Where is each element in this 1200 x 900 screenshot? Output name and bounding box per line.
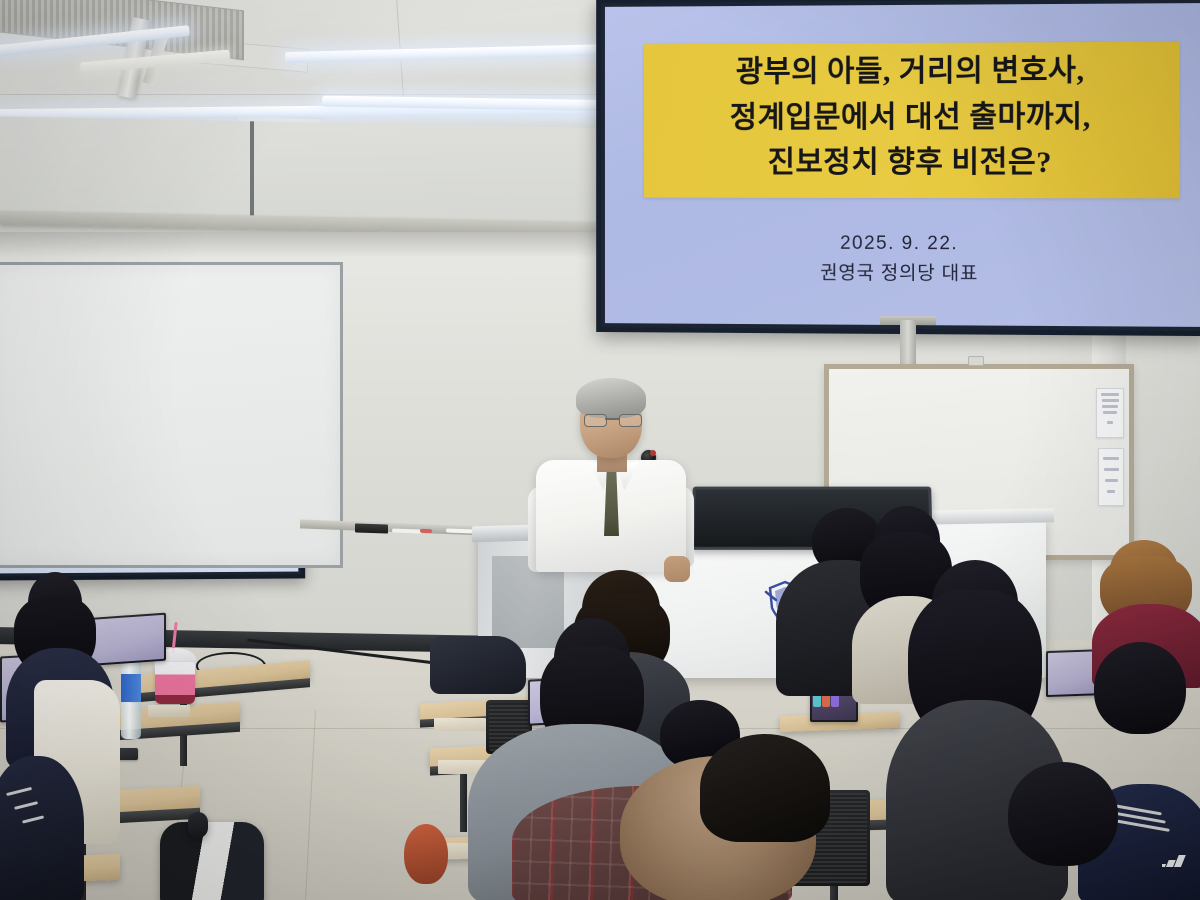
pencil-case[interactable] [434, 718, 486, 731]
eyeglasses-icon [584, 414, 640, 425]
whiteboard-clip [968, 356, 984, 366]
backpack-strap [188, 812, 208, 838]
adidas-logo-icon [1162, 852, 1192, 872]
notice-text-lines [1103, 453, 1119, 501]
whiteboard-eraser[interactable] [355, 523, 388, 533]
backpack[interactable] [160, 822, 264, 900]
pink-smoothie-cup[interactable] [155, 662, 195, 704]
red-marker[interactable] [420, 529, 432, 533]
main-projection-screen[interactable]: 광부의 아들, 거리의 변호사, 정계입문에서 대선 출마까지, 진보정치 향후… [596, 0, 1200, 336]
left-whiteboard [0, 262, 343, 568]
slide-title-line-3: 진보정치 향후 비전은? [654, 140, 1170, 186]
desk-leg [460, 772, 467, 832]
slide-surface: 광부의 아들, 거리의 변호사, 정계입문에서 대선 출마까지, 진보정치 향후… [605, 3, 1200, 327]
wall-notice-lower [1098, 448, 1124, 506]
water-bottle-label [121, 674, 141, 702]
speaker-forearm [664, 556, 690, 582]
pencil-case[interactable] [148, 705, 190, 717]
slide-date: 2025. 9. 22. [605, 232, 1200, 256]
microphone-tip [650, 450, 656, 456]
slide-meta-block: 2025. 9. 22. 권영국 정의당 대표 [605, 232, 1200, 286]
slide-speaker-name: 권영국 정의당 대표 [605, 257, 1200, 287]
slide-title-line-1: 광부의 아들, 거리의 변호사, [654, 48, 1170, 96]
lecture-hall-photo: 광부의 아들, 거리의 변호사, 정계입문에서 대선 출마까지, 진보정치 향후… [0, 0, 1200, 900]
slide-title-highlight-box: 광부의 아들, 거리의 변호사, 정계입문에서 대선 출마까지, 진보정치 향후… [644, 42, 1180, 199]
slide-title-line-2: 정계입문에서 대선 출마까지, [654, 94, 1170, 141]
speaker-hair [576, 378, 646, 418]
draped-jacket [430, 636, 526, 694]
wall-notice-upper [1096, 388, 1124, 438]
notice-text-lines [1101, 393, 1119, 433]
